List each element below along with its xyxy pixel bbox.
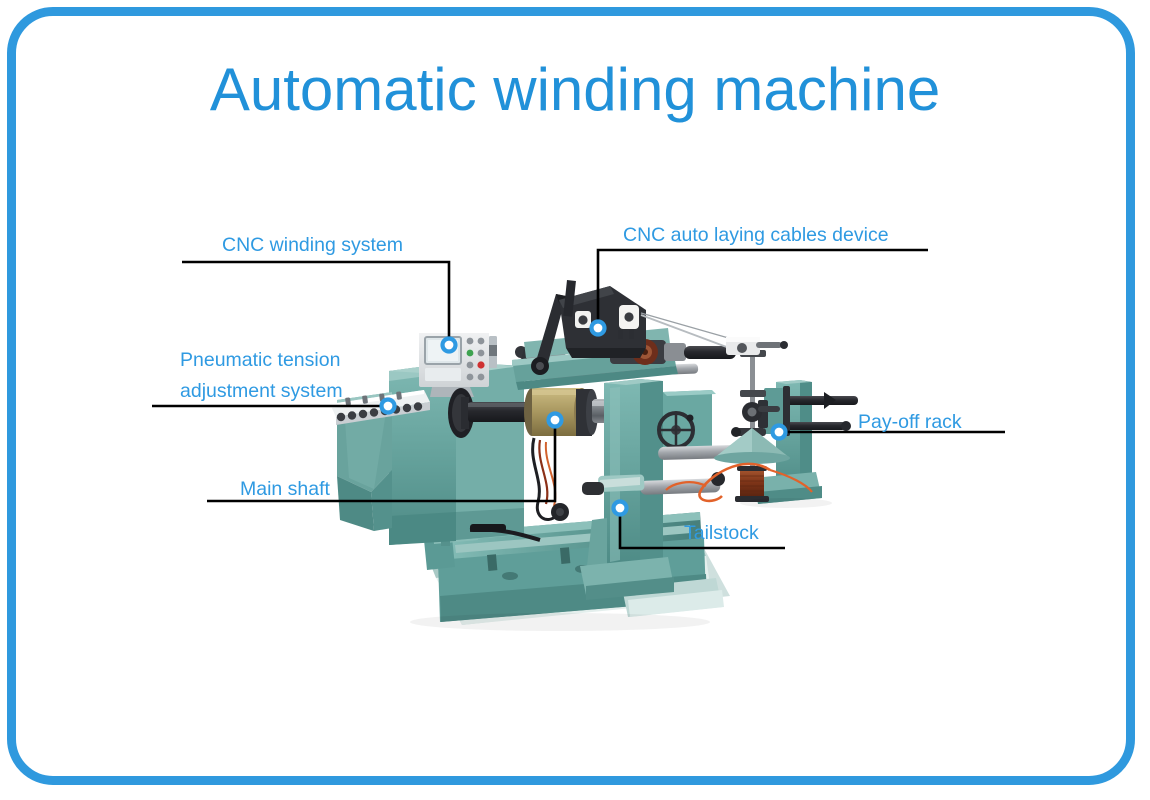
diagram-page: CNC winding system CNC auto laying cable… [0,0,1150,800]
callout-label-pneumatic-tension-adjustment-system: Pneumatic tension adjustment system [180,345,380,407]
callout-label-tailstock: Tailstock [684,519,759,547]
callout-label-pay-off-rack: Pay-off rack [858,408,962,436]
callout-label-main-shaft: Main shaft [240,475,330,503]
callout-label-pneumatic-line-1: Pneumatic tension [180,345,380,376]
control-panel [419,328,497,397]
callout-label-cnc-auto-laying-cables-device: CNC auto laying cables device [623,221,889,249]
callout-label-pneumatic-line-2: adjustment system [180,376,380,407]
callout-label-cnc-winding-system: CNC winding system [222,231,403,259]
page-title: Automatic winding machine [0,58,1150,122]
